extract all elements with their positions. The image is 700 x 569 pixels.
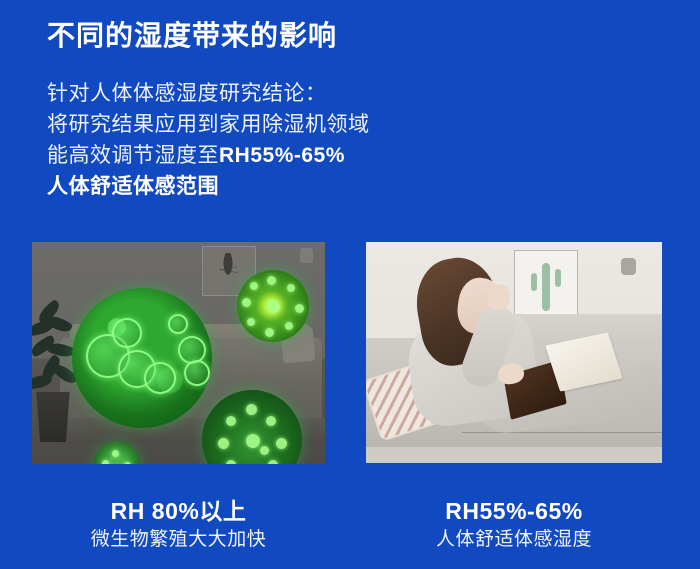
caption-comfort-humidity: RH55%-65% 人体舒适体感湿度 <box>366 496 662 554</box>
plant-pot <box>34 392 72 442</box>
body-copy-line-2: 将研究结果应用到家用除湿机领域 <box>47 109 487 140</box>
floor-strip <box>366 447 662 463</box>
body-copy-line-3-prefix: 能高效调节湿度至 <box>47 144 219 167</box>
wall-switch-icon <box>300 248 313 263</box>
caption-left-subtitle: 微生物繁殖大大加快 <box>32 526 325 554</box>
body-copy-block: 针对人体体感湿度研究结论： 将研究结果应用到家用除湿机领域 能高效调节湿度至RH… <box>47 78 487 202</box>
page-title: 不同的湿度带来的影响 <box>47 18 337 54</box>
caption-left-title: RH 80%以上 <box>32 496 325 526</box>
caption-right-subtitle: 人体舒适体感湿度 <box>366 526 662 554</box>
sofa-seam <box>462 432 662 433</box>
cactus-icon <box>542 263 550 311</box>
caption-right-title: RH55%-65% <box>366 496 662 526</box>
photo-comfort-humidity <box>366 242 662 463</box>
germ-sphere-large <box>72 288 212 428</box>
dark-living-room-scene <box>32 242 325 464</box>
body-copy-line-1: 针对人体体感湿度研究结论： <box>47 78 487 109</box>
germ-sphere-small <box>94 442 140 464</box>
photo-high-humidity <box>32 242 325 464</box>
bright-living-room-scene <box>366 242 662 463</box>
body-copy-line-4: 人体舒适体感范围 <box>47 171 487 202</box>
cactus-artwork-frame-icon <box>514 250 578 324</box>
humidity-range-highlight: RH55%-65% <box>219 144 345 167</box>
caption-high-humidity: RH 80%以上 微生物繁殖大大加快 <box>32 496 325 554</box>
wall-switch-icon <box>621 258 636 275</box>
humidity-infographic-poster: 不同的湿度带来的影响 针对人体体感湿度研究结论： 将研究结果应用到家用除湿机领域… <box>0 0 700 569</box>
body-copy-line-3: 能高效调节湿度至RH55%-65% <box>47 140 487 171</box>
germ-sphere-medium <box>237 270 309 342</box>
